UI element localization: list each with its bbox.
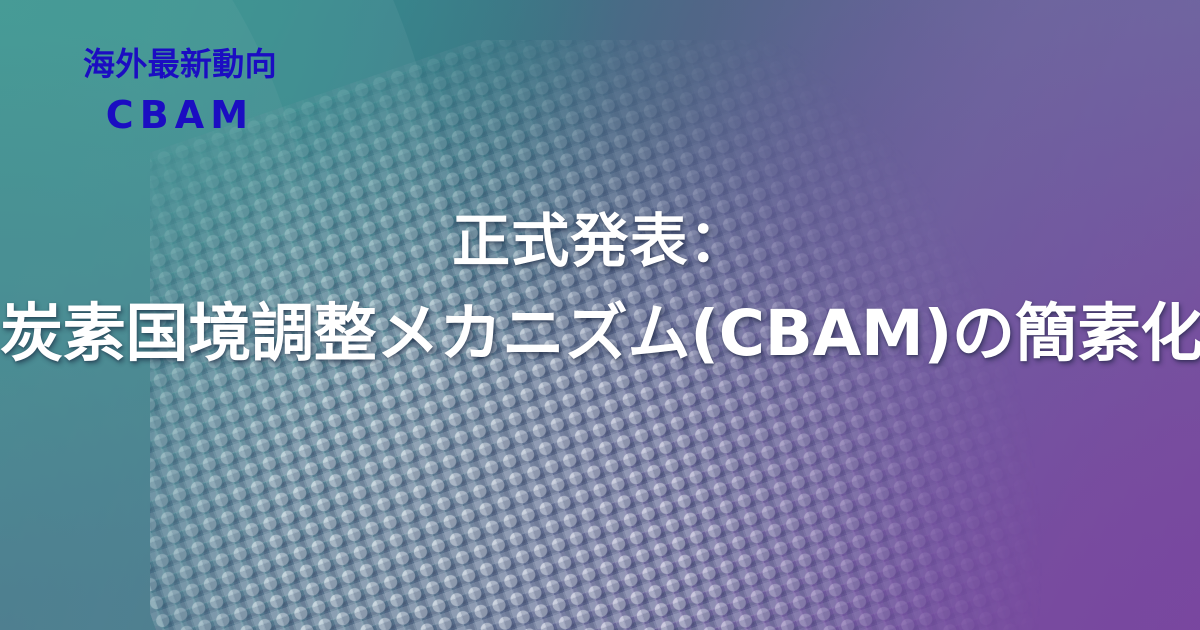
cbam-title-banner: 海外最新動向 CBAM 正式発表： 炭素国境調整メカニズム(CBAM)の簡素化 xyxy=(0,0,1200,630)
eyebrow-block: 海外最新動向 CBAM xyxy=(0,48,360,134)
eyebrow-acronym-text: CBAM xyxy=(0,96,360,134)
title-line-1: 正式発表： xyxy=(0,208,1200,275)
title-line-2: 炭素国境調整メカニズム(CBAM)の簡素化 xyxy=(0,297,1200,370)
page-title: 正式発表： 炭素国境調整メカニズム(CBAM)の簡素化 xyxy=(0,208,1200,370)
eyebrow-kicker-text: 海外最新動向 xyxy=(0,48,360,80)
